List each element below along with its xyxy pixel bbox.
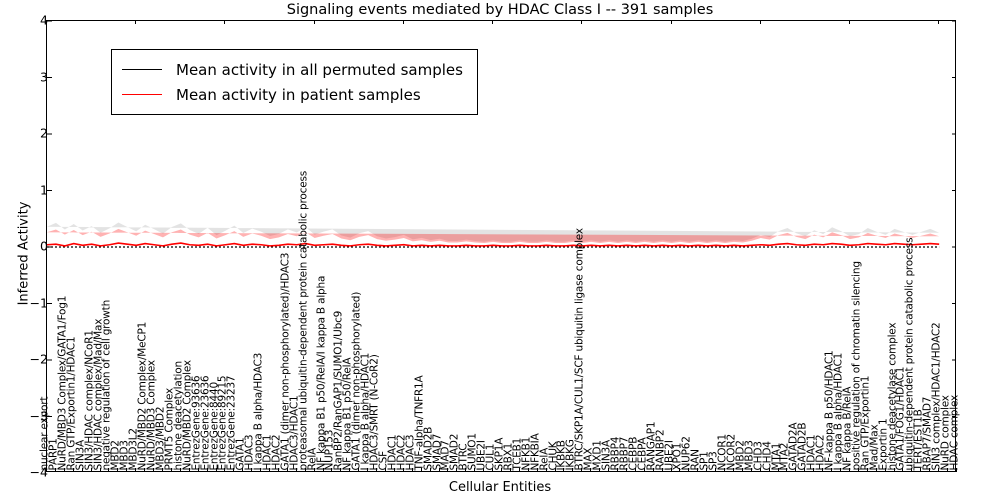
y-tick-label: 3 — [8, 69, 48, 84]
legend-label-0: Mean activity in all permuted samples — [176, 61, 463, 79]
y-tick-label: 2 — [8, 126, 48, 141]
legend-entry-1: Mean activity in patient samples — [122, 82, 463, 107]
y-tick-label: 4 — [8, 13, 48, 28]
y-axis-label: Inferred Activity — [17, 134, 32, 374]
y-tick-label: −4 — [8, 465, 48, 480]
y-tick-label: −3 — [8, 408, 48, 423]
legend-swatch-1 — [122, 94, 162, 95]
y-tick-label: −2 — [8, 352, 48, 367]
legend-swatch-0 — [122, 69, 162, 70]
chart-title: Signaling events mediated by HDAC Class … — [0, 0, 1000, 20]
y-tick-label: 0 — [8, 239, 48, 254]
series-line-1 — [47, 243, 939, 246]
legend-entry-0: Mean activity in all permuted samples — [122, 57, 463, 82]
figure-canvas: Signaling events mediated by HDAC Class … — [0, 0, 1000, 500]
x-axis-label: Cellular Entities — [0, 480, 1000, 495]
x-tick-mark — [956, 468, 957, 472]
y-tick-label: −1 — [8, 295, 48, 310]
chart-legend: Mean activity in all permuted samplesMea… — [111, 49, 478, 115]
y-tick-label: 1 — [8, 182, 48, 197]
plot-axes: Mean activity in all permuted samplesMea… — [46, 20, 956, 472]
legend-label-1: Mean activity in patient samples — [176, 86, 421, 104]
